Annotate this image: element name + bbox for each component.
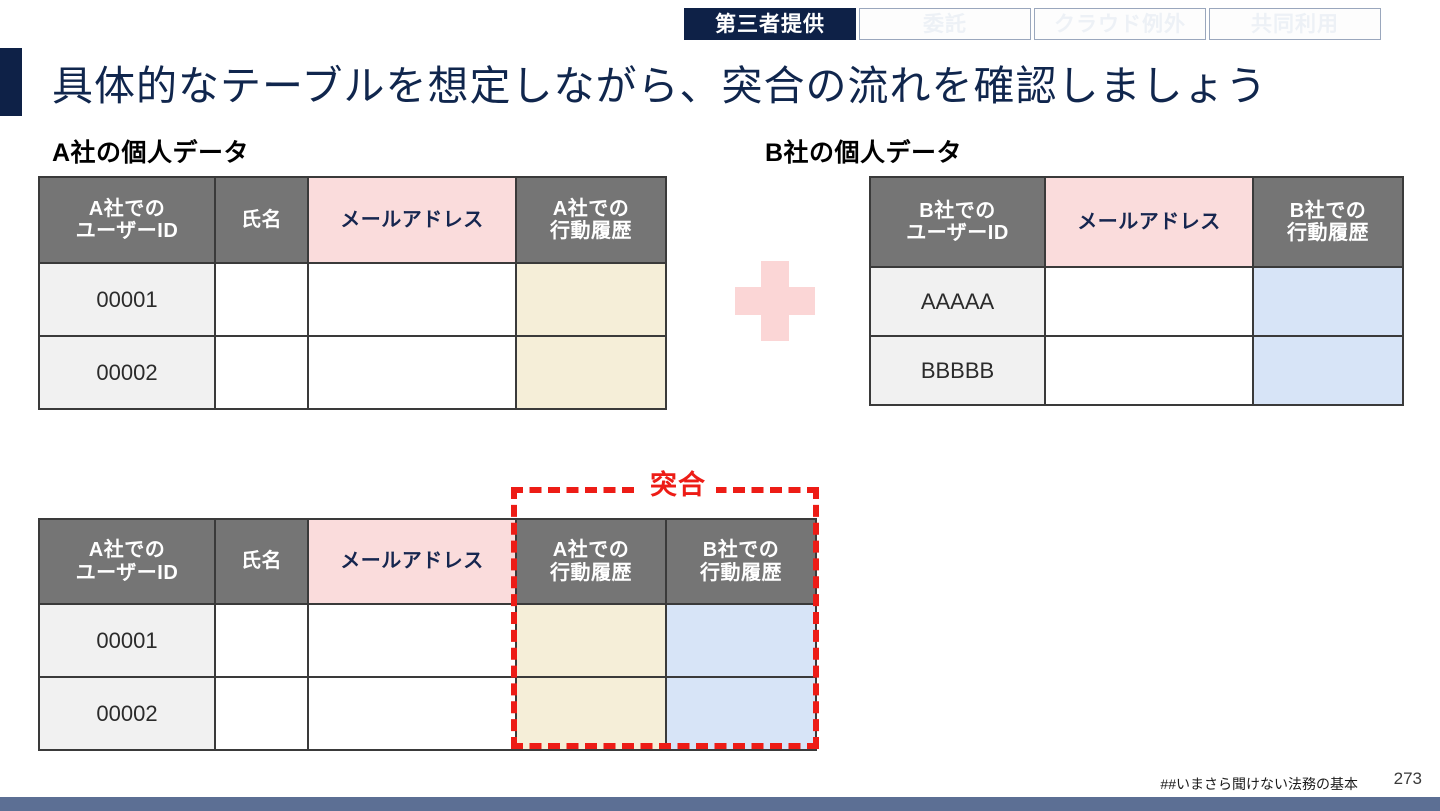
cell-history-a	[516, 336, 666, 409]
header-line-2: 行動履歴	[550, 220, 632, 242]
cell-email	[1045, 267, 1253, 336]
cell-email	[308, 677, 516, 750]
tab-consignment[interactable]: 委託	[859, 8, 1031, 40]
table-row: 00002	[39, 677, 816, 750]
tab-cloud-exception[interactable]: クラウド例外	[1034, 8, 1206, 40]
plus-icon	[735, 261, 815, 341]
header-line-2: ユーザーID	[76, 562, 179, 584]
header-cell-user-id: B社での ユーザーID	[870, 177, 1045, 267]
header-line-1: A社での	[89, 198, 165, 220]
header-line-1: B社での	[703, 539, 779, 561]
table-header-row: B社での ユーザーID メールアドレス B社での 行動履歴	[870, 177, 1403, 267]
cell-email	[308, 263, 516, 336]
cell-user-id: 00001	[39, 263, 215, 336]
page-number: 273	[1394, 769, 1422, 789]
tab-third-party-provision[interactable]: 第三者提供	[684, 8, 856, 40]
header-cell-history-b: B社での 行動履歴	[1253, 177, 1403, 267]
header-cell-history-a: A社での 行動履歴	[516, 519, 666, 604]
header-cell-user-id: A社での ユーザーID	[39, 519, 215, 604]
cell-name	[215, 263, 308, 336]
cell-name	[215, 336, 308, 409]
cell-email	[308, 336, 516, 409]
header-line-1: A社での	[89, 539, 165, 561]
cell-user-id: AAAAA	[870, 267, 1045, 336]
table-company-a-personal-data: A社での ユーザーID 氏名 メールアドレス A社での 行動履歴 00001 0…	[38, 176, 667, 410]
header-line-2: ユーザーID	[76, 220, 179, 242]
header-cell-name: 氏名	[215, 519, 308, 604]
cell-history-a	[516, 677, 666, 750]
header-cell-email: メールアドレス	[308, 177, 516, 263]
title-accent-bar	[0, 48, 22, 116]
cell-user-id: BBBBB	[870, 336, 1045, 405]
table-row: BBBBB	[870, 336, 1403, 405]
table-row: 00001	[39, 263, 666, 336]
cell-user-id: 00001	[39, 604, 215, 677]
cell-history-a	[516, 604, 666, 677]
header-line-2: ユーザーID	[906, 222, 1009, 244]
cell-history-b	[1253, 267, 1403, 336]
header-line-2: 行動履歴	[1287, 222, 1369, 244]
table-row: 00001	[39, 604, 816, 677]
plus-icon-vertical-bar	[761, 261, 789, 341]
footer-note: ##いまさら聞けない法務の基本	[1160, 774, 1358, 794]
section-label-company-b: B社の個人データ	[765, 133, 962, 169]
header-cell-user-id: A社での ユーザーID	[39, 177, 215, 263]
cell-user-id: 00002	[39, 677, 215, 750]
table-row: 00002	[39, 336, 666, 409]
header-cell-name: 氏名	[215, 177, 308, 263]
tab-joint-use[interactable]: 共同利用	[1209, 8, 1381, 40]
header-cell-email: メールアドレス	[1045, 177, 1253, 267]
cell-user-id: 00002	[39, 336, 215, 409]
header-line-2: 行動履歴	[700, 562, 782, 584]
header-line-1: A社での	[553, 198, 629, 220]
header-cell-history-b: B社での 行動履歴	[666, 519, 816, 604]
table-header-row: A社での ユーザーID 氏名 メールアドレス A社での 行動履歴	[39, 177, 666, 263]
header-line-1: B社での	[919, 200, 995, 222]
cell-history-b	[666, 604, 816, 677]
section-label-company-a: A社の個人データ	[52, 133, 249, 169]
cell-history-a	[516, 263, 666, 336]
header-cell-email: メールアドレス	[308, 519, 516, 604]
header-line-1: A社での	[553, 539, 629, 561]
match-label: 突合	[640, 470, 716, 500]
table-company-b-personal-data: B社での ユーザーID メールアドレス B社での 行動履歴 AAAAA BBBB…	[869, 176, 1404, 406]
header-cell-history-a: A社での 行動履歴	[516, 177, 666, 263]
table-row: AAAAA	[870, 267, 1403, 336]
header-line-1: B社での	[1290, 200, 1366, 222]
table-header-row: A社での ユーザーID 氏名 メールアドレス A社での 行動履歴 B社での 行動…	[39, 519, 816, 604]
table-merged-result: A社での ユーザーID 氏名 メールアドレス A社での 行動履歴 B社での 行動…	[38, 518, 817, 751]
footer-bar	[0, 797, 1440, 811]
cell-history-b	[666, 677, 816, 750]
cell-email	[1045, 336, 1253, 405]
cell-email	[308, 604, 516, 677]
cell-name	[215, 604, 308, 677]
cell-history-b	[1253, 336, 1403, 405]
cell-name	[215, 677, 308, 750]
header-line-2: 行動履歴	[550, 562, 632, 584]
category-tab-strip: 第三者提供 委託 クラウド例外 共同利用	[684, 8, 1381, 40]
page-title: 具体的なテーブルを想定しながら、突合の流れを確認しましょう	[52, 52, 1268, 112]
